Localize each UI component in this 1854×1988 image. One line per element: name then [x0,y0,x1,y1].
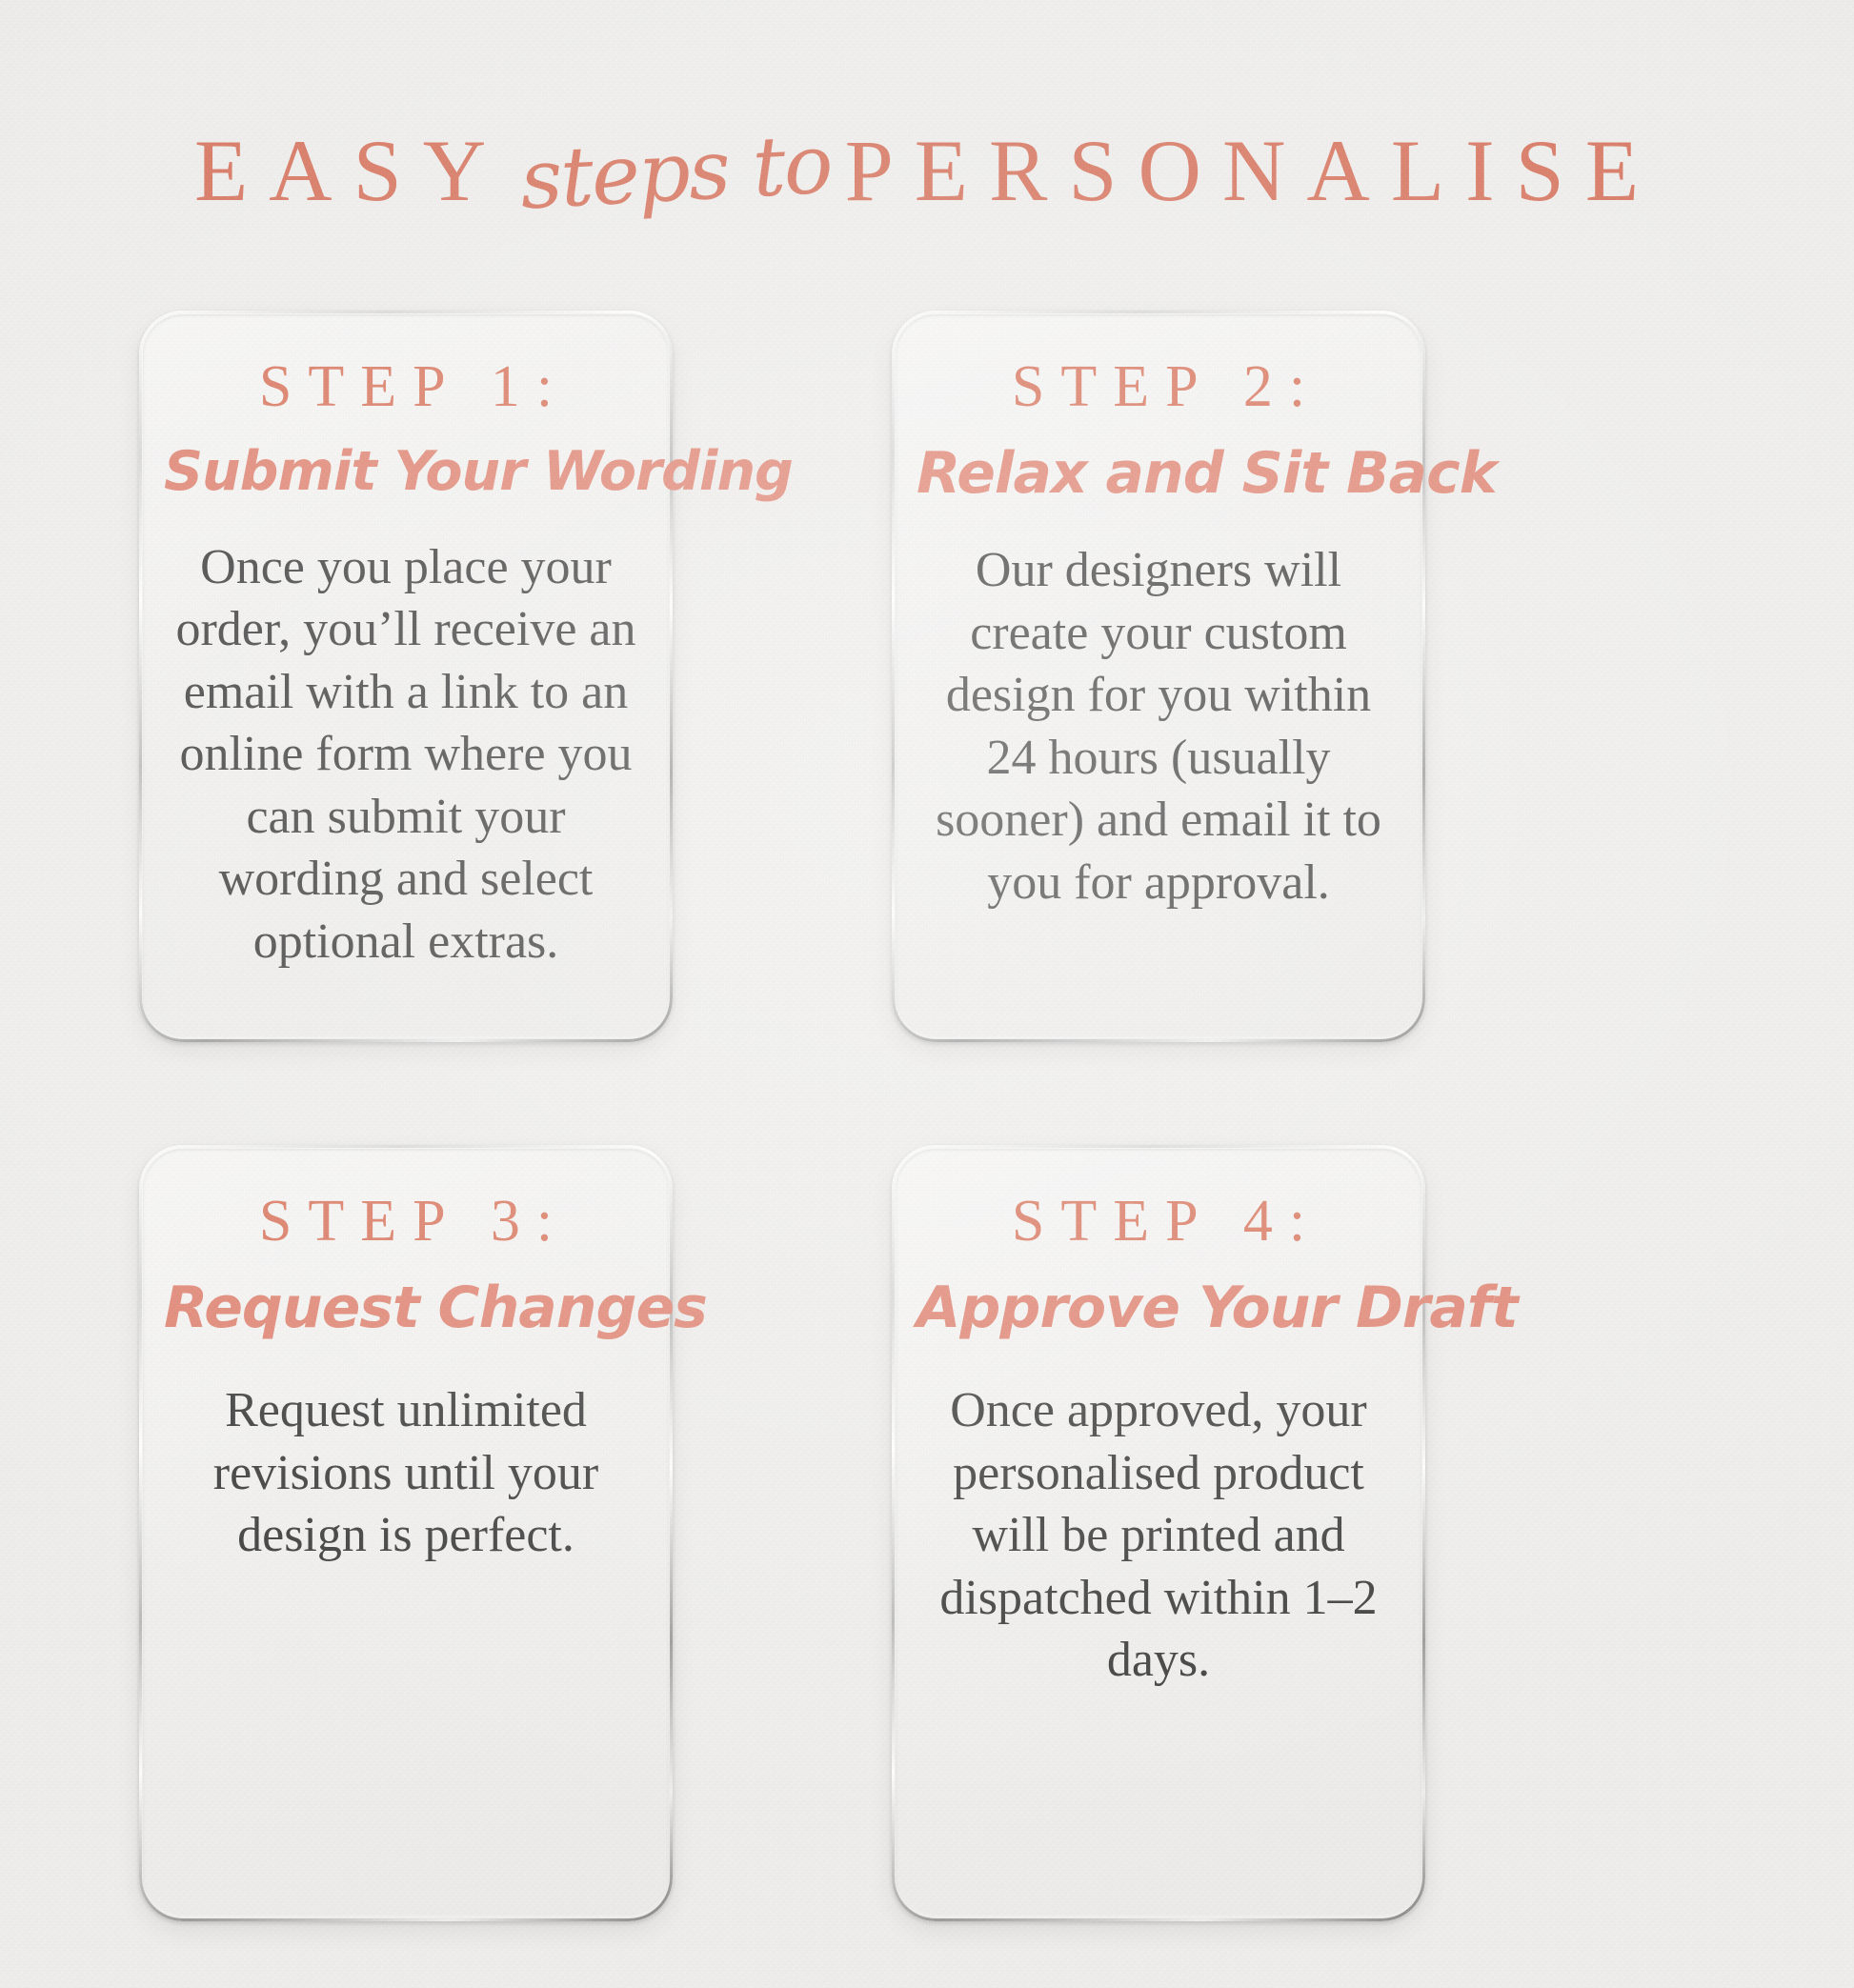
step-card-3-content: STEP 3: Request Changes Request unlimite… [164,1191,648,1567]
step-card-1: STEP 1: Submit Your Wording Once you pla… [139,311,673,1042]
step-card-4: STEP 4: Approve Your Draft Once approved… [892,1145,1425,1921]
page-title-word-easy: EASY [194,122,507,219]
page-title: EASYsteps toPERSONALISE [0,120,1854,221]
step-2-title: Relax and Sit Back [917,441,1401,507]
page-title-word-personalise: PERSONALISE [845,122,1660,219]
step-2-body: Our designers will create your custom de… [917,539,1401,914]
step-1-title: Submit Your Wording [164,441,648,504]
page-title-script-steps-to: steps to [505,116,847,229]
step-card-2: STEP 2: Relax and Sit Back Our designers… [892,311,1425,1042]
step-card-3: STEP 3: Request Changes Request unlimite… [139,1145,673,1921]
steps-grid: STEP 1: Submit Your Wording Once you pla… [139,311,1715,1921]
step-1-label: STEP 1: [164,356,648,418]
step-1-body: Once you place your order, you’ll receiv… [164,536,648,974]
step-2-label: STEP 2: [917,356,1401,418]
step-card-1-content: STEP 1: Submit Your Wording Once you pla… [164,356,648,973]
step-3-body: Request unlimited revisions until your d… [164,1379,648,1567]
step-card-2-content: STEP 2: Relax and Sit Back Our designers… [917,356,1401,914]
steps-to-personalise-page: EASYsteps toPERSONALISE STEP 1: Submit Y… [0,0,1854,1988]
step-3-title: Request Changes [164,1275,648,1341]
step-4-body: Once approved, your personalised product… [917,1379,1401,1692]
step-4-title: Approve Your Draft [917,1275,1401,1341]
step-card-4-content: STEP 4: Approve Your Draft Once approved… [917,1191,1401,1692]
step-3-label: STEP 3: [164,1191,648,1253]
step-4-label: STEP 4: [917,1191,1401,1253]
